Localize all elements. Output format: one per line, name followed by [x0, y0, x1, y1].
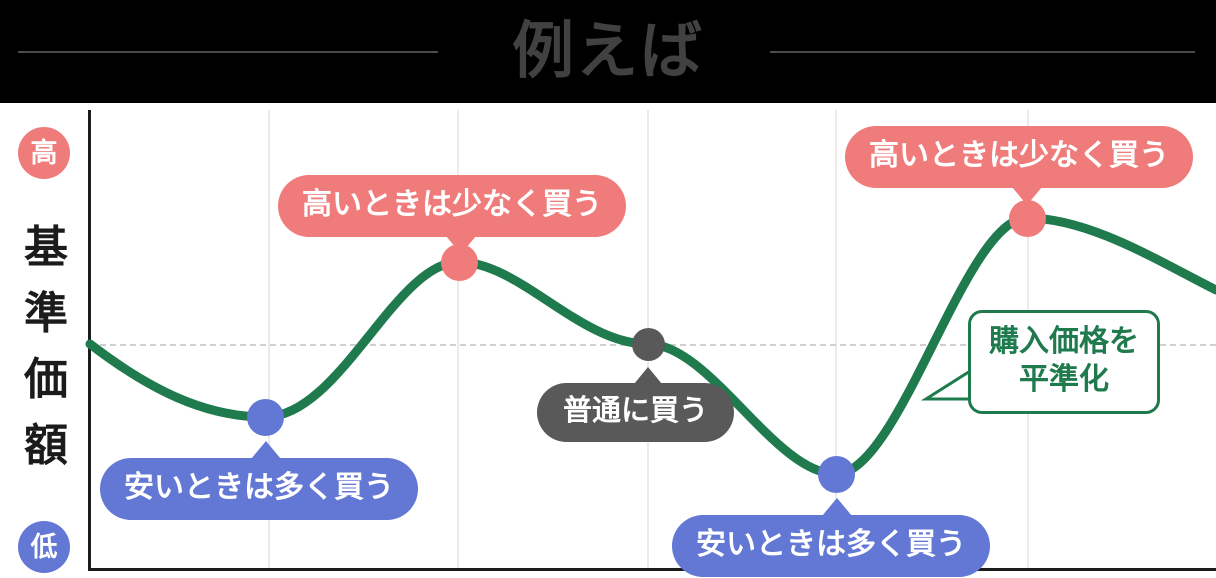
axis-badge-low: 低 — [18, 521, 70, 573]
y-axis-title-char-2: 準 — [18, 281, 74, 347]
callout-low-right-label: 安いときは多く買う — [696, 528, 966, 561]
callout-low-left-label: 安いときは多く買う — [124, 471, 394, 504]
green-note-line-2: 平準化 — [989, 361, 1139, 399]
callout-tail-down-icon — [1012, 187, 1042, 205]
callout-high-right-label: 高いときは少なく買う — [869, 139, 1169, 172]
marker-normal — [632, 328, 665, 361]
infographic-canvas: 例えば 高 低 基 準 価 額 高いときは少なく買う 安いときは多く買う 普通に… — [0, 0, 1216, 578]
callout-tail-up-icon — [822, 498, 852, 516]
marker-low-left — [247, 399, 284, 436]
callout-high-left-label: 高いときは少なく買う — [302, 188, 602, 221]
marker-low-right — [818, 456, 855, 493]
callout-tail-up-icon — [251, 441, 281, 459]
callout-tail-down-icon — [446, 236, 476, 254]
page-title: 例えば — [0, 6, 1216, 98]
axis-badge-high: 高 — [18, 127, 70, 179]
callout-normal-label: 普通に買う — [563, 395, 708, 427]
y-axis-title-char-4: 額 — [18, 413, 74, 479]
header-band: 例えば — [0, 0, 1216, 103]
callout-high-left[interactable]: 高いときは少なく買う — [278, 175, 626, 237]
callout-high-right[interactable]: 高いときは少なく買う — [845, 126, 1193, 188]
x-axis-line — [88, 568, 1216, 571]
callout-normal[interactable]: 普通に買う — [537, 383, 734, 442]
y-axis-title: 基 準 価 額 — [18, 215, 74, 479]
callout-tail-up-icon — [634, 367, 662, 384]
callout-low-right[interactable]: 安いときは多く買う — [672, 515, 990, 577]
y-axis-line — [88, 110, 91, 570]
callout-low-left[interactable]: 安いときは多く買う — [100, 458, 418, 520]
green-note-line-1: 購入価格を — [989, 323, 1139, 361]
green-note[interactable]: 購入価格を 平準化 — [968, 310, 1160, 414]
y-axis-title-char-3: 価 — [18, 347, 74, 413]
marker-high-right — [1009, 200, 1046, 237]
y-axis-title-char-1: 基 — [18, 215, 74, 281]
